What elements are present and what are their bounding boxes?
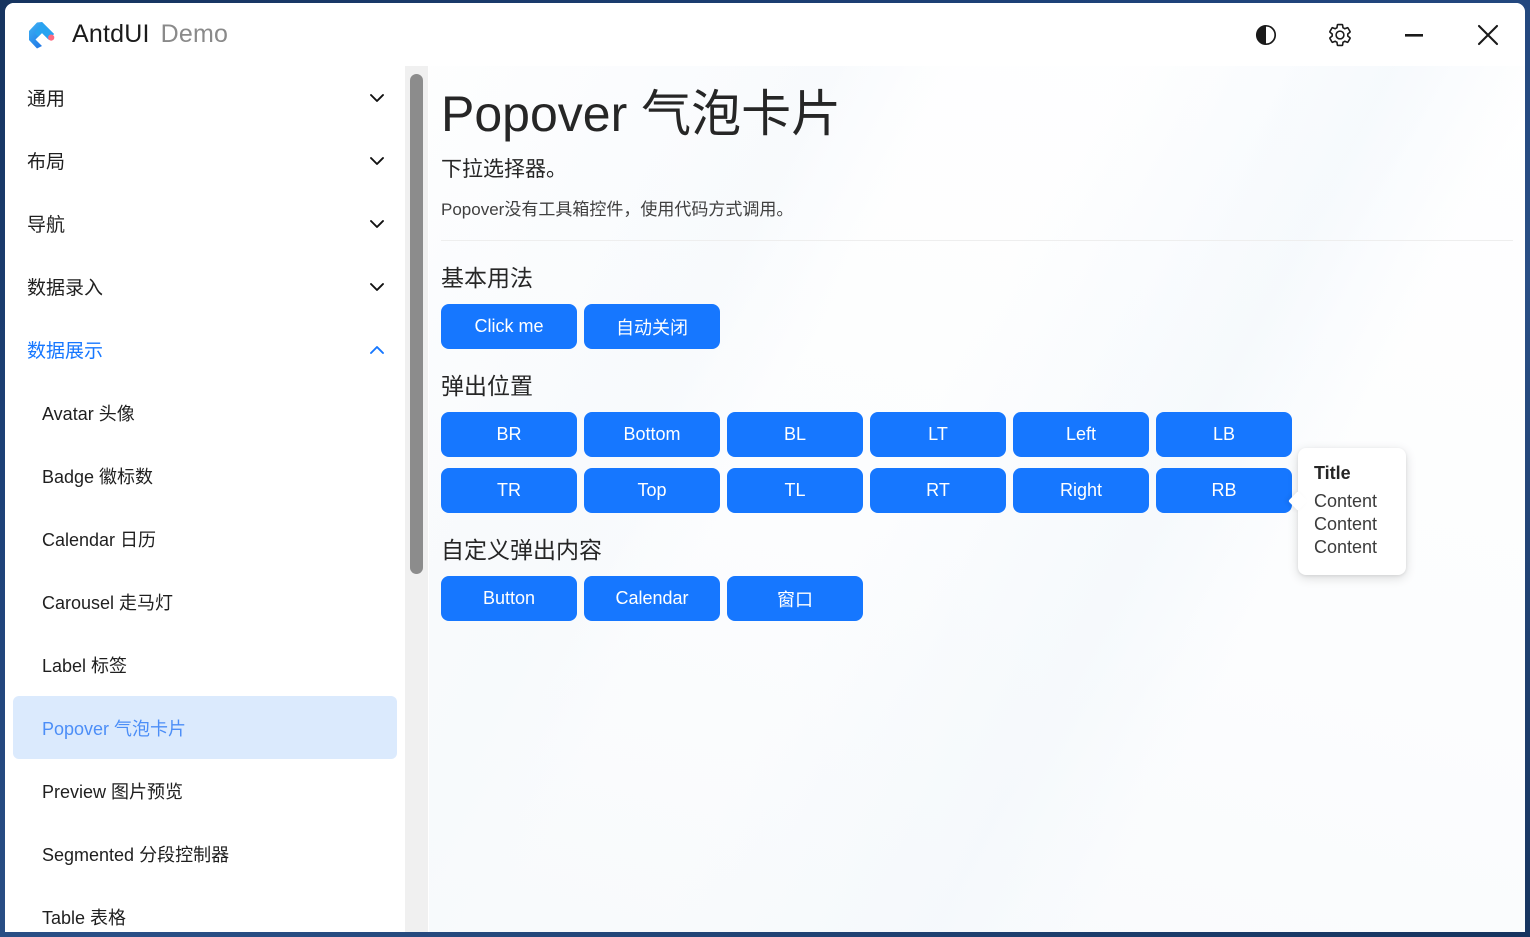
app-window: AntdUI Demo bbox=[0, 0, 1530, 937]
sidebar-group-general[interactable]: 通用 bbox=[5, 66, 405, 129]
placement-button-right[interactable]: Right bbox=[1013, 468, 1149, 513]
auto-close-button[interactable]: 自动关闭 bbox=[584, 304, 720, 349]
sidebar-group-label: 数据展示 bbox=[27, 336, 103, 363]
sidebar-item-label[interactable]: Label 标签 bbox=[13, 633, 397, 696]
title-bar[interactable]: AntdUI Demo bbox=[5, 3, 1525, 66]
minimize-button[interactable] bbox=[1377, 3, 1451, 66]
chevron-down-icon bbox=[367, 88, 387, 108]
window-inner: AntdUI Demo bbox=[5, 3, 1525, 932]
basic-usage-button-row: Click me 自动关闭 bbox=[441, 304, 1525, 349]
gear-icon bbox=[1327, 22, 1353, 48]
sidebar-item-label: Carousel 走马灯 bbox=[42, 589, 173, 615]
sidebar-item-label: Popover 气泡卡片 bbox=[42, 715, 186, 741]
header-divider bbox=[441, 240, 1513, 241]
sidebar-group-label: 通用 bbox=[27, 84, 65, 111]
sidebar-item-label: Calendar 日历 bbox=[42, 526, 156, 552]
custom-button-window[interactable]: 窗口 bbox=[727, 576, 863, 621]
popover-content-line: Content bbox=[1314, 536, 1390, 559]
section-heading-basic: 基本用法 bbox=[441, 259, 1525, 293]
sidebar-item-label: Avatar 头像 bbox=[42, 400, 135, 426]
close-button[interactable] bbox=[1451, 3, 1525, 66]
sidebar-menu: 通用 布局 导航 bbox=[5, 66, 405, 932]
sidebar-item-label: Table 表格 bbox=[42, 904, 126, 930]
sidebar-item-table[interactable]: Table 表格 bbox=[13, 885, 397, 932]
chevron-down-icon bbox=[367, 151, 387, 171]
placement-button-br[interactable]: BR bbox=[441, 412, 577, 457]
custom-button-calendar[interactable]: Calendar bbox=[584, 576, 720, 621]
sidebar-group-label: 导航 bbox=[27, 210, 65, 237]
body-area: 通用 布局 导航 bbox=[5, 66, 1525, 932]
placement-button-tl[interactable]: TL bbox=[727, 468, 863, 513]
custom-button-button[interactable]: Button bbox=[441, 576, 577, 621]
chevron-down-icon bbox=[367, 277, 387, 297]
placement-button-lb[interactable]: LB bbox=[1156, 412, 1292, 457]
placement-button-bl[interactable]: BL bbox=[727, 412, 863, 457]
placement-button-tr[interactable]: TR bbox=[441, 468, 577, 513]
popover-card: Title Content Content Content bbox=[1298, 448, 1406, 575]
page-title: Popover 气泡卡片 bbox=[441, 84, 1525, 145]
sidebar: 通用 布局 导航 bbox=[5, 66, 429, 932]
placement-button-left[interactable]: Left bbox=[1013, 412, 1149, 457]
sidebar-item-label: Preview 图片预览 bbox=[42, 778, 183, 804]
sidebar-item-segmented[interactable]: Segmented 分段控制器 bbox=[13, 822, 397, 885]
sidebar-item-popover[interactable]: Popover 气泡卡片 bbox=[13, 696, 397, 759]
section-heading-placement: 弹出位置 bbox=[441, 367, 1525, 401]
sidebar-scrollbar-thumb[interactable] bbox=[410, 74, 423, 574]
popover-content-line: Content bbox=[1314, 490, 1390, 513]
placement-button-lt[interactable]: LT bbox=[870, 412, 1006, 457]
sidebar-group-navigation[interactable]: 导航 bbox=[5, 192, 405, 255]
chevron-up-icon bbox=[367, 340, 387, 360]
placement-button-bottom[interactable]: Bottom bbox=[584, 412, 720, 457]
page-description: Popover没有工具箱控件，使用代码方式调用。 bbox=[441, 195, 1525, 220]
sidebar-item-label: Label 标签 bbox=[42, 652, 127, 678]
sidebar-item-preview[interactable]: Preview 图片预览 bbox=[13, 759, 397, 822]
sidebar-group-data-display[interactable]: 数据展示 bbox=[5, 318, 405, 381]
app-subtitle: Demo bbox=[161, 20, 229, 49]
theme-toggle-button[interactable] bbox=[1229, 3, 1303, 66]
sidebar-item-carousel[interactable]: Carousel 走马灯 bbox=[13, 570, 397, 633]
app-name: AntdUI bbox=[72, 20, 150, 49]
placement-button-rt[interactable]: RT bbox=[870, 468, 1006, 513]
minimize-icon bbox=[1401, 22, 1427, 48]
sidebar-item-badge[interactable]: Badge 徽标数 bbox=[13, 444, 397, 507]
sidebar-item-label: Segmented 分段控制器 bbox=[42, 841, 229, 867]
app-title: AntdUI Demo bbox=[72, 20, 228, 49]
main-content: Popover 气泡卡片 下拉选择器。 Popover没有工具箱控件，使用代码方… bbox=[429, 66, 1525, 932]
popover-content-line: Content bbox=[1314, 513, 1390, 536]
sidebar-item-label: Badge 徽标数 bbox=[42, 463, 153, 489]
antdui-logo-icon bbox=[25, 18, 59, 52]
sidebar-group-data-entry[interactable]: 数据录入 bbox=[5, 255, 405, 318]
custom-content-button-row: Button Calendar 窗口 bbox=[441, 576, 1525, 621]
sidebar-item-calendar[interactable]: Calendar 日历 bbox=[13, 507, 397, 570]
sidebar-group-label: 数据录入 bbox=[27, 273, 103, 300]
sidebar-group-label: 布局 bbox=[27, 147, 65, 174]
close-icon bbox=[1474, 21, 1502, 49]
click-me-button[interactable]: Click me bbox=[441, 304, 577, 349]
popover-title: Title bbox=[1314, 463, 1390, 484]
contrast-circle-icon bbox=[1254, 23, 1278, 47]
placement-button-rb[interactable]: RB bbox=[1156, 468, 1292, 513]
sidebar-item-avatar[interactable]: Avatar 头像 bbox=[13, 381, 397, 444]
placement-button-top[interactable]: Top bbox=[584, 468, 720, 513]
settings-button[interactable] bbox=[1303, 3, 1377, 66]
chevron-down-icon bbox=[367, 214, 387, 234]
sidebar-group-layout[interactable]: 布局 bbox=[5, 129, 405, 192]
page-subtitle: 下拉选择器。 bbox=[441, 153, 1525, 183]
